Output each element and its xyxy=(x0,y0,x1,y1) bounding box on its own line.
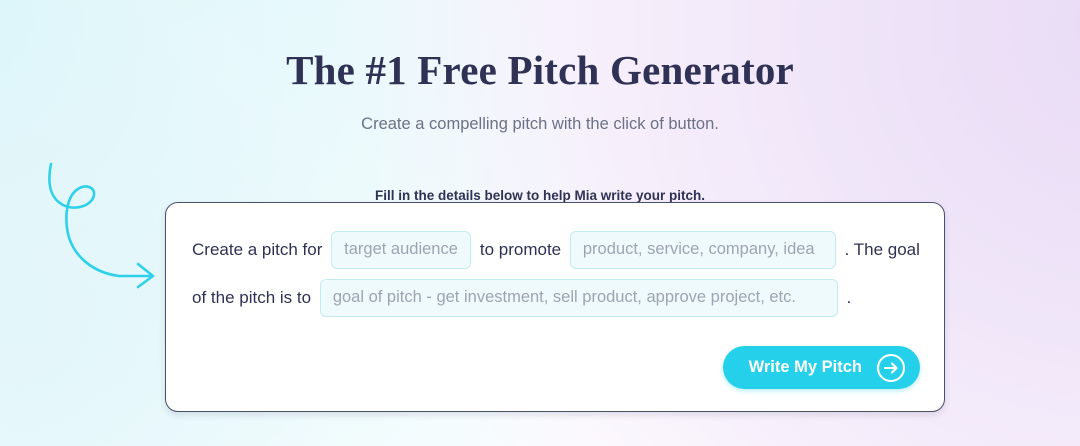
write-my-pitch-button[interactable]: Write My Pitch xyxy=(723,346,920,389)
arrow-right-circle-icon xyxy=(876,353,906,383)
prompt-line-one: Create a pitch for to promote . The goal xyxy=(192,225,920,273)
curved-squiggle-arrow-icon xyxy=(34,160,174,295)
prompt-line-two: of the pitch is to . xyxy=(192,273,920,321)
prompt-text-the-goal: . The goal xyxy=(845,240,920,259)
prompt-text-to-promote: to promote xyxy=(480,240,561,259)
pitch-goal-input[interactable] xyxy=(320,279,838,317)
write-my-pitch-label: Write My Pitch xyxy=(749,358,862,377)
pitch-form-card: Create a pitch for to promote . The goal… xyxy=(165,202,945,412)
pitch-generator-page: The #1 Free Pitch Generator Create a com… xyxy=(0,0,1080,446)
pitch-form-fields: Create a pitch for to promote . The goal… xyxy=(192,225,920,321)
prompt-text-of-the-pitch-is-to: of the pitch is to xyxy=(192,288,311,307)
target-audience-input[interactable] xyxy=(331,231,471,269)
page-title: The #1 Free Pitch Generator xyxy=(0,44,1080,96)
prompt-text-create-a-pitch-for: Create a pitch for xyxy=(192,240,322,259)
page-subtitle: Create a compelling pitch with the click… xyxy=(0,112,1080,136)
prompt-text-period: . xyxy=(847,288,852,307)
promote-subject-input[interactable] xyxy=(570,231,836,269)
submit-row: Write My Pitch xyxy=(723,346,920,389)
